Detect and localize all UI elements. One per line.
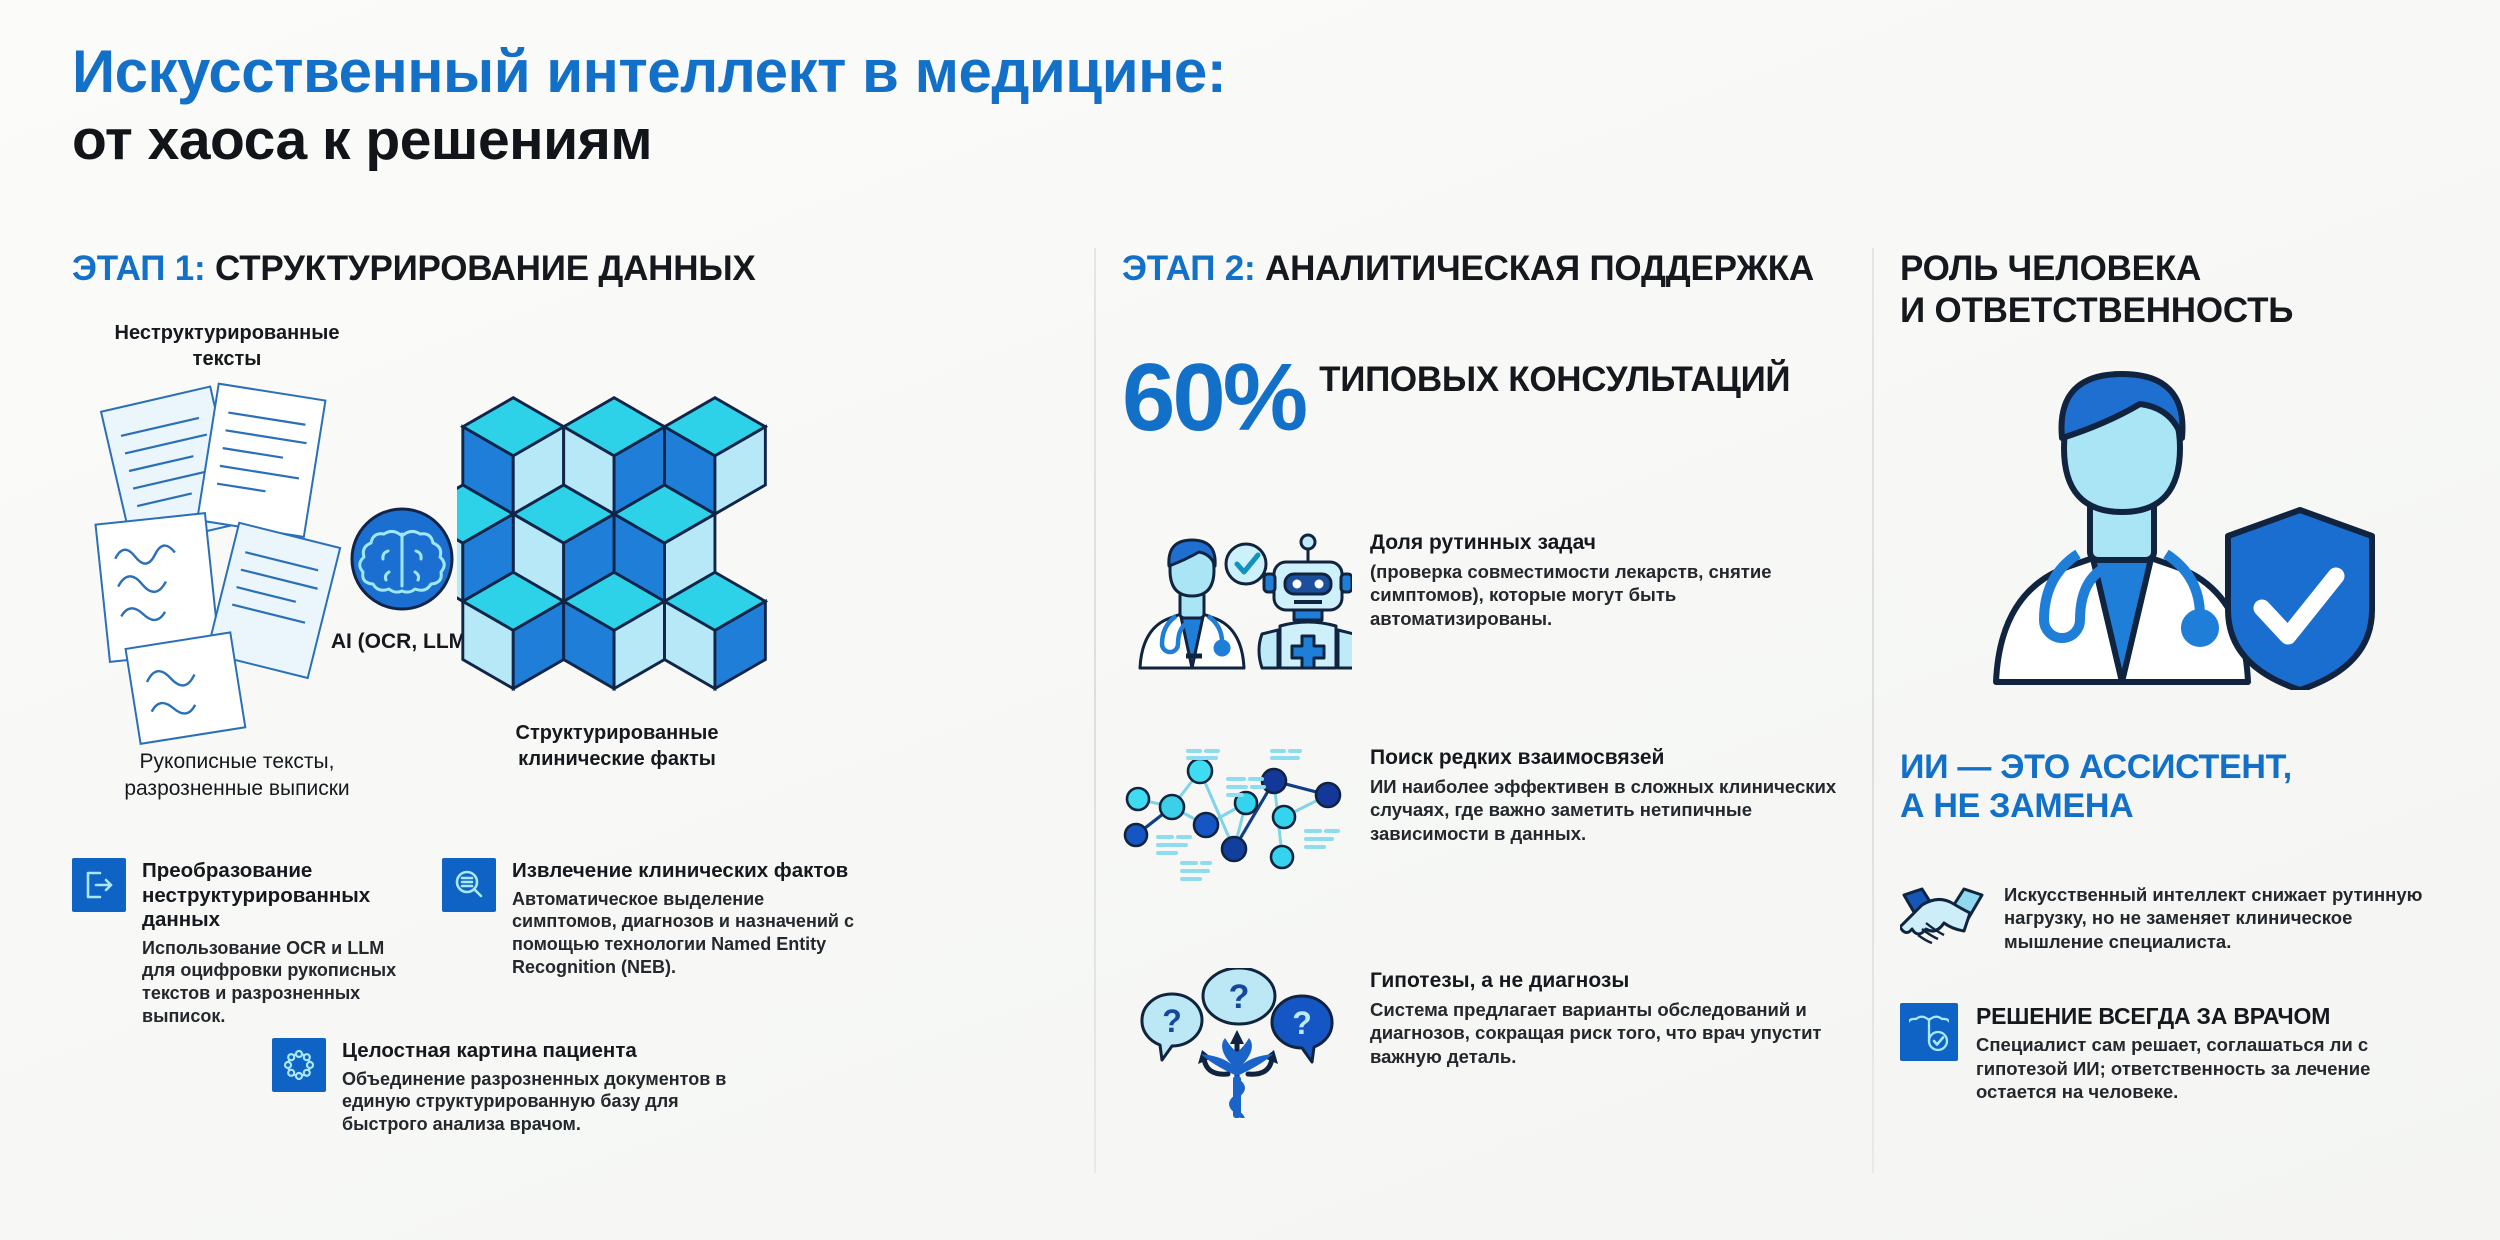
row-doctor-decides: РЕШЕНИЕ ВСЕГДА ЗА ВРАЧОМ Специалист сам … (1900, 1003, 2406, 1104)
question-bubbles-caduceus-icon: ? ? ? (1122, 968, 1352, 1118)
svg-text:?: ? (1162, 1003, 1182, 1039)
isometric-cubes-illustration (457, 388, 777, 708)
feature-body: Объединение разрозненных документов в ед… (342, 1068, 732, 1136)
feature-heading: Извлечение клинических фактов (512, 859, 862, 884)
export-arrow-icon (72, 858, 126, 912)
panel1-stage-label: ЭТАП 1: (72, 249, 206, 288)
panel2-stage-label: ЭТАП 2: (1122, 249, 1256, 288)
block-heading: Поиск редких взаимосвязей (1370, 745, 1852, 770)
feature-holistic-picture: Целостная картина пациента Объединение р… (272, 1038, 732, 1136)
column-divider-1 (1094, 248, 1096, 1173)
panel3-heading-line-2: И ОТВЕТСТВЕННОСТЬ (1900, 290, 2460, 332)
infographic-page: Искусственный интеллект в медицине: от х… (0, 0, 2500, 1240)
panel-stage-1: ЭТАП 1: СТРУКТУРИРОВАНИЕ ДАННЫХ Неструкт… (72, 248, 1082, 1178)
feature-heading: Целостная картина пациента (342, 1039, 732, 1064)
title-line-1: Искусственный интеллект в медицине: (72, 38, 1226, 105)
row-body: Специалист сам решает, соглашаться ли с … (1976, 1033, 2406, 1103)
svg-text:?: ? (1292, 1005, 1312, 1041)
block-heading: Доля рутинных задач (1370, 530, 1852, 555)
statistic-row: 60% ТИПОВЫХ КОНСУЛЬТАЦИЙ (1122, 353, 1790, 442)
statistic-number: 60% (1122, 353, 1305, 442)
block-heading: Гипотезы, а не диагнозы (1370, 968, 1852, 993)
statistic-caption: ТИПОВЫХ КОНСУЛЬТАЦИЙ (1319, 353, 1790, 400)
title-line-2: от хаоса к решениям (72, 109, 1226, 173)
panel2-heading: ЭТАП 2: АНАЛИТИЧЕСКАЯ ПОДДЕРЖКА (1122, 248, 1852, 290)
panel-human-role: РОЛЬ ЧЕЛОВЕКА И ОТВЕТСТВЕННОСТЬ (1900, 248, 2460, 1178)
block-hypotheses: ? ? ? (1122, 968, 1852, 1118)
feature-transform-unstructured: Преобразование неструктурированных данны… (72, 858, 402, 1027)
doctor-shield-illustration (1940, 360, 2380, 690)
feature-heading: Преобразование неструктурированных данны… (142, 859, 402, 933)
panel3-heading: РОЛЬ ЧЕЛОВЕКА И ОТВЕТСТВЕННОСТЬ (1900, 248, 2460, 332)
panel1-heading-text: СТРУКТУРИРОВАНИЕ ДАННЫХ (215, 249, 756, 288)
label-handwritten-texts: Рукописные тексты, разрозненные выписки (72, 748, 402, 803)
row-heading: РЕШЕНИЕ ВСЕГДА ЗА ВРАЧОМ (1976, 1003, 2406, 1029)
node-ring-icon (272, 1038, 326, 1092)
panel2-heading-text: АНАЛИТИЧЕСКАЯ ПОДДЕРЖКА (1265, 249, 1814, 288)
brain-check-icon (1900, 1003, 1958, 1061)
block-body: Система предлагает варианты обследований… (1370, 998, 1852, 1068)
block-body: (проверка совместимости лекарств, снятие… (1370, 560, 1852, 630)
row-ai-reduces-load: Искусственный интеллект снижает рутинную… (1900, 883, 2424, 953)
feature-body: Автоматическое выделение симптомов, диаг… (512, 888, 862, 979)
feature-body: Использование OCR и LLM для оцифровки ру… (142, 937, 402, 1028)
panel3-heading-line-1: РОЛЬ ЧЕЛОВЕКА (1900, 248, 2460, 290)
feature-extract-facts: Извлечение клинических фактов Автоматиче… (442, 858, 862, 978)
label-unstructured-texts: Неструктурированные тексты (82, 320, 372, 372)
network-graph-icon (1122, 745, 1352, 885)
magnifier-document-icon (442, 858, 496, 912)
svg-text:?: ? (1229, 978, 1250, 1016)
slogan-line-1: ИИ — ЭТО АССИСТЕНТ, (1900, 748, 2292, 787)
handshake-icon (1900, 883, 1986, 947)
label-structured-facts: Структурированные клинические факты (457, 720, 777, 772)
panel-stage-2: ЭТАП 2: АНАЛИТИЧЕСКАЯ ПОДДЕРЖКА 60% ТИПО… (1122, 248, 1852, 1178)
block-body: ИИ наиболее эффективен в сложных клиниче… (1370, 775, 1852, 845)
row-body: Искусственный интеллект снижает рутинную… (2004, 883, 2424, 953)
slogan-line-2: А НЕ ЗАМЕНА (1900, 787, 2292, 826)
ai-assistant-slogan: ИИ — ЭТО АССИСТЕНТ, А НЕ ЗАМЕНА (1900, 748, 2292, 827)
block-rare-correlations: Поиск редких взаимосвязей ИИ наиболее эф… (1122, 745, 1852, 885)
doctor-robot-icon (1122, 530, 1352, 670)
column-divider-2 (1872, 248, 1874, 1173)
panel1-heading: ЭТАП 1: СТРУКТУРИРОВАНИЕ ДАННЫХ (72, 248, 1082, 290)
page-title: Искусственный интеллект в медицине: от х… (72, 38, 1226, 173)
block-routine-tasks: Доля рутинных задач (проверка совместимо… (1122, 530, 1852, 670)
